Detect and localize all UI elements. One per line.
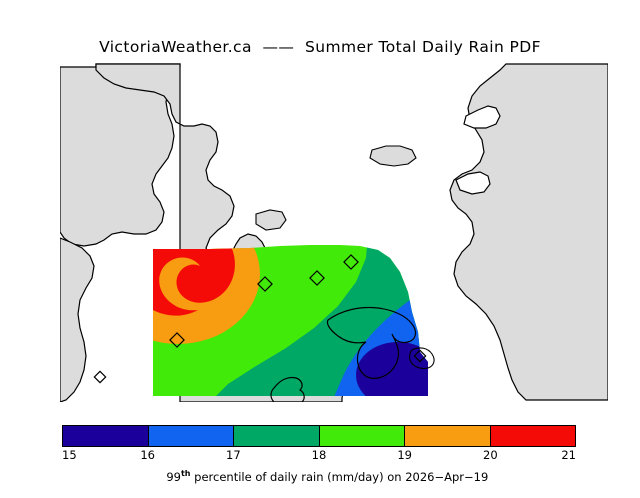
colorbar-caption: 99th percentile of daily rain (mm/day) o… xyxy=(0,455,640,498)
weather-map-page: VictoriaWeather.ca —— Summer Total Daily… xyxy=(0,0,640,480)
islet-north xyxy=(370,146,416,166)
colorbar: 15161718192021 xyxy=(62,425,576,447)
map-svg xyxy=(60,62,608,402)
islet-west xyxy=(256,210,286,230)
map-panel[interactable] xyxy=(60,62,608,402)
colorbar-band-20-21[interactable] xyxy=(491,426,576,446)
station-marker[interactable] xyxy=(94,371,105,382)
colorbar-band-15-16[interactable] xyxy=(63,426,149,446)
colorbar-band-16-17[interactable] xyxy=(149,426,235,446)
colorbar-band-19-20[interactable] xyxy=(405,426,491,446)
colorbar-band-17-18[interactable] xyxy=(234,426,320,446)
land-west-peninsula xyxy=(60,238,94,402)
colorbar-strip[interactable] xyxy=(62,425,576,447)
caption-suffix: percentile of daily rain (mm/day) on 202… xyxy=(191,470,489,484)
caption-prefix: 99 xyxy=(166,470,181,484)
colorbar-band-18-19[interactable] xyxy=(320,426,406,446)
caption-superscript: th xyxy=(181,469,191,478)
page-title: VictoriaWeather.ca —— Summer Total Daily… xyxy=(0,38,640,56)
